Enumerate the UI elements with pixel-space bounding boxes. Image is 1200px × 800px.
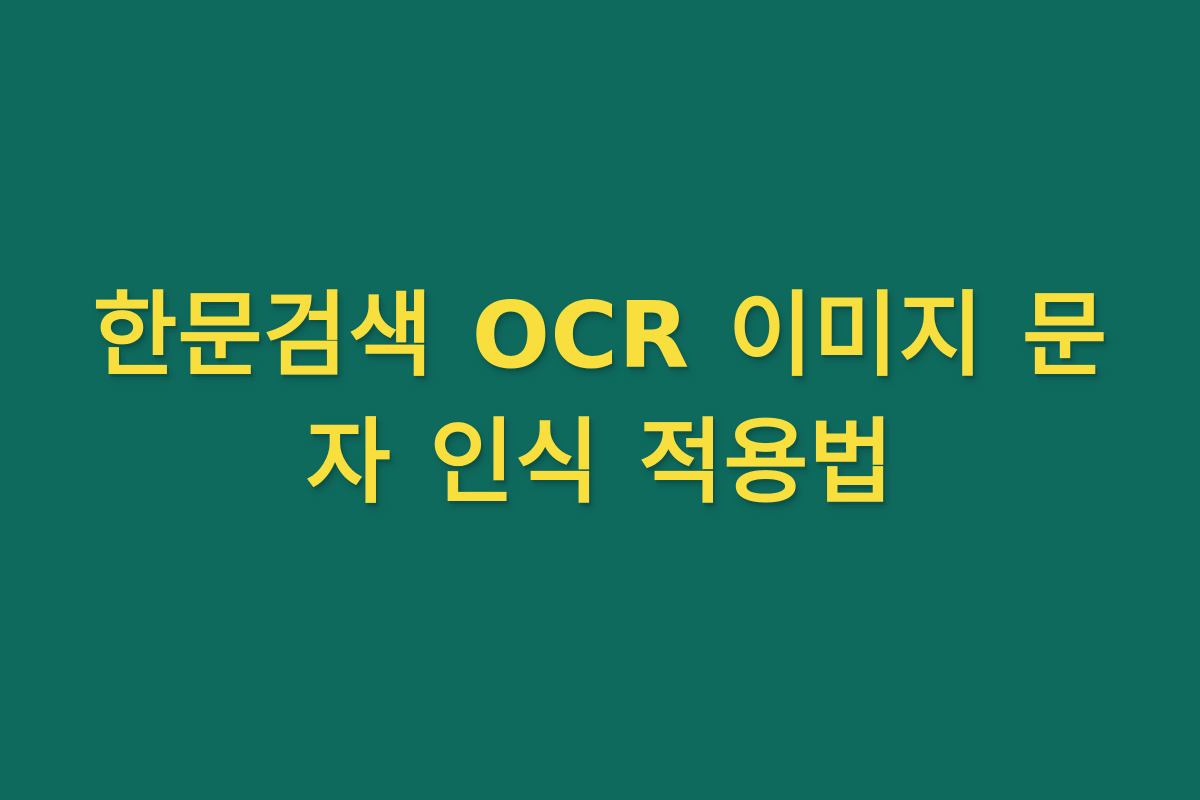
title-card: 한문검색 OCR 이미지 문자 인식 적용법	[0, 0, 1200, 800]
headline-block: 한문검색 OCR 이미지 문자 인식 적용법	[80, 273, 1120, 527]
page-title: 한문검색 OCR 이미지 문자 인식 적용법	[80, 273, 1120, 527]
